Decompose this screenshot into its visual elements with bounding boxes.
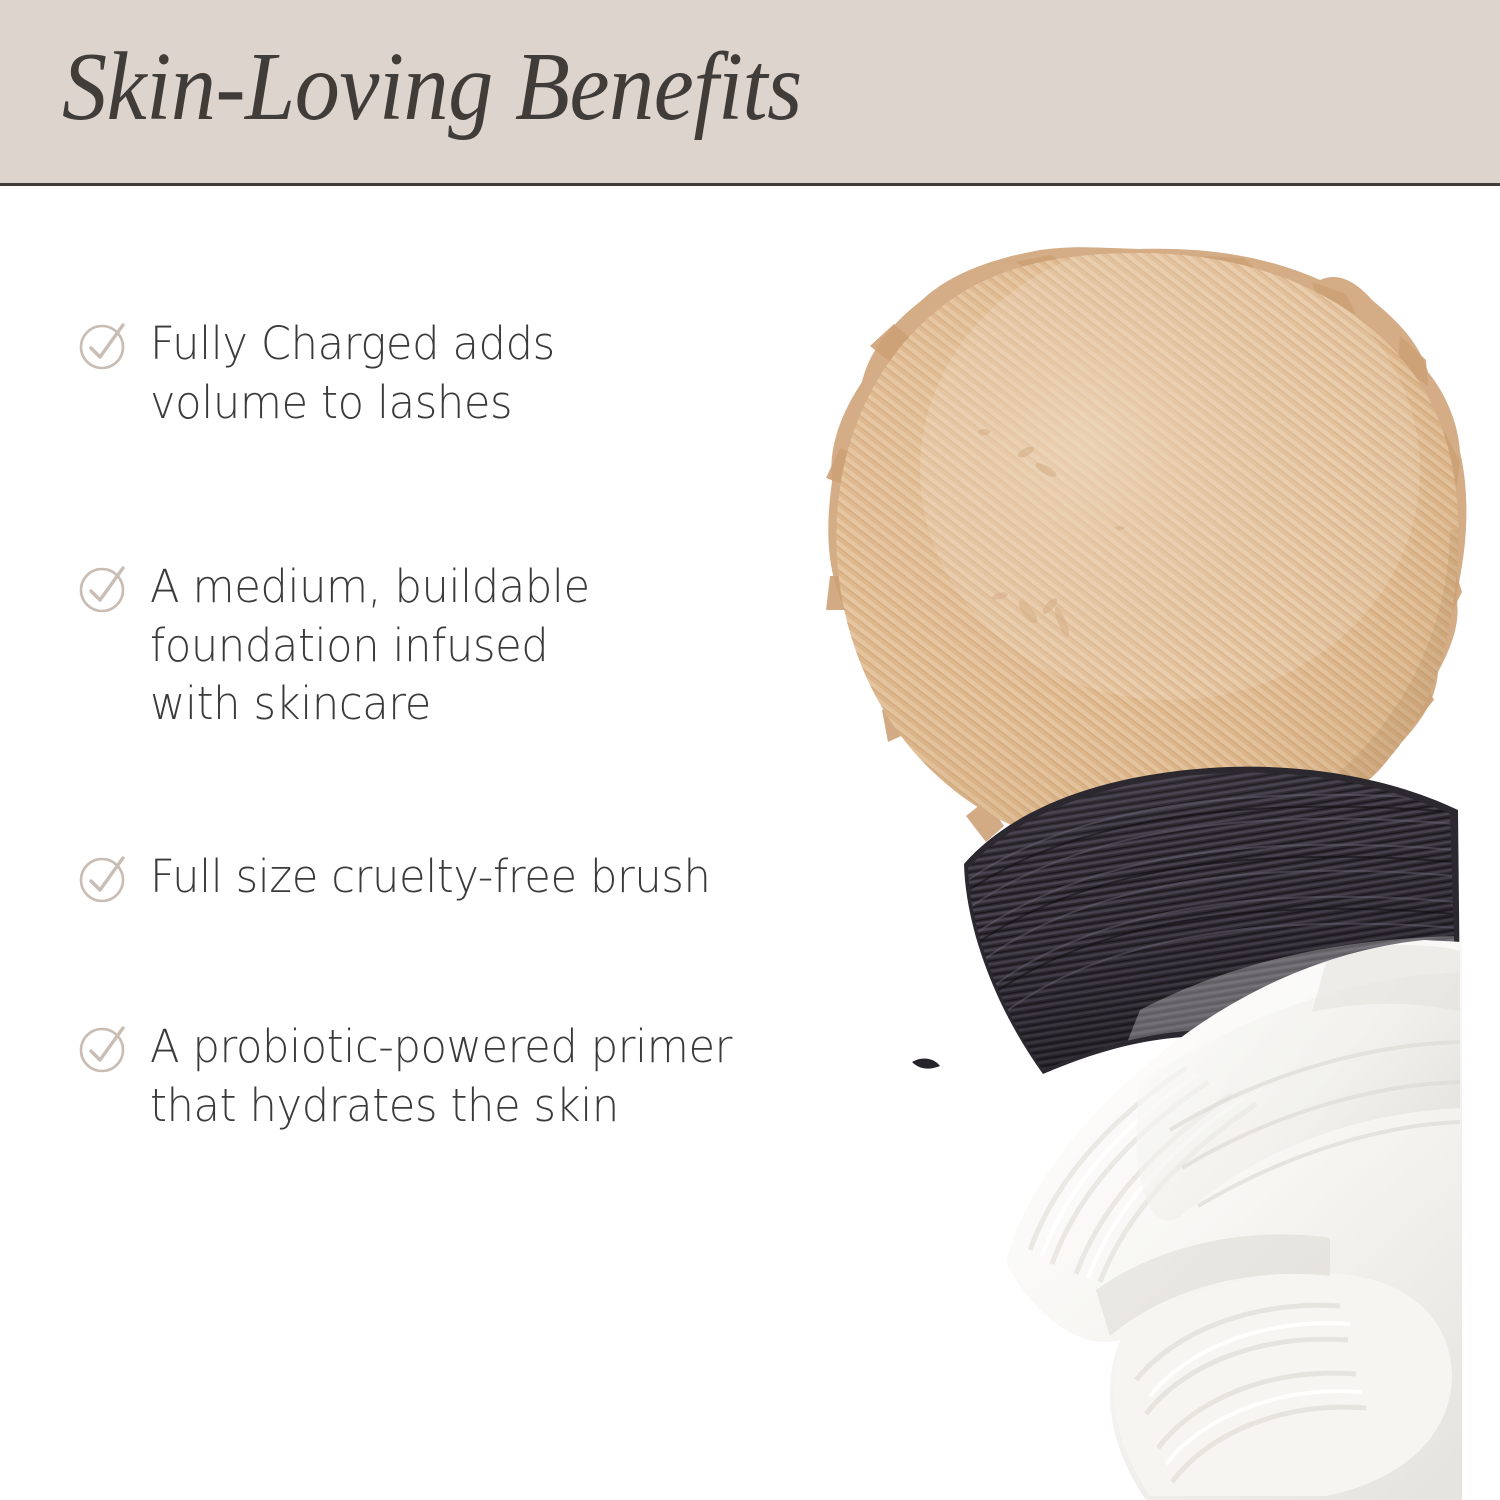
- benefit-list-item: A medium, buildable foundation infused w…: [78, 558, 608, 734]
- benefits-infographic-page: Skin-Loving Benefits Fully Charged adds …: [0, 0, 1500, 1500]
- product-swatch-artwork: [0, 0, 1500, 1500]
- check-circle-icon: [78, 320, 130, 372]
- benefit-list-item-label: Fully Charged adds volume to lashes: [150, 315, 555, 432]
- page-title: Skin-Loving Benefits: [62, 38, 802, 135]
- benefit-list-item-label: Full size cruelty-free brush: [150, 848, 711, 907]
- cream-primer-swatch: [1006, 940, 1462, 1500]
- mascara-swatch: [912, 750, 1480, 1090]
- benefit-list-item: A probiotic-powered primer that hydrates…: [78, 1018, 756, 1135]
- check-circle-icon: [78, 563, 130, 615]
- check-circle-icon: [78, 853, 130, 905]
- pressed-powder-foundation-swatch: [820, 240, 1490, 884]
- benefit-list-item-label: A probiotic-powered primer that hydrates…: [150, 1018, 732, 1135]
- header-band: Skin-Loving Benefits: [0, 0, 1500, 186]
- benefit-list-item: Full size cruelty-free brush: [78, 848, 734, 907]
- benefit-list-item-label: A medium, buildable foundation infused w…: [150, 558, 590, 734]
- check-circle-icon: [78, 1023, 130, 1075]
- benefit-list-item: Fully Charged adds volume to lashes: [78, 315, 572, 432]
